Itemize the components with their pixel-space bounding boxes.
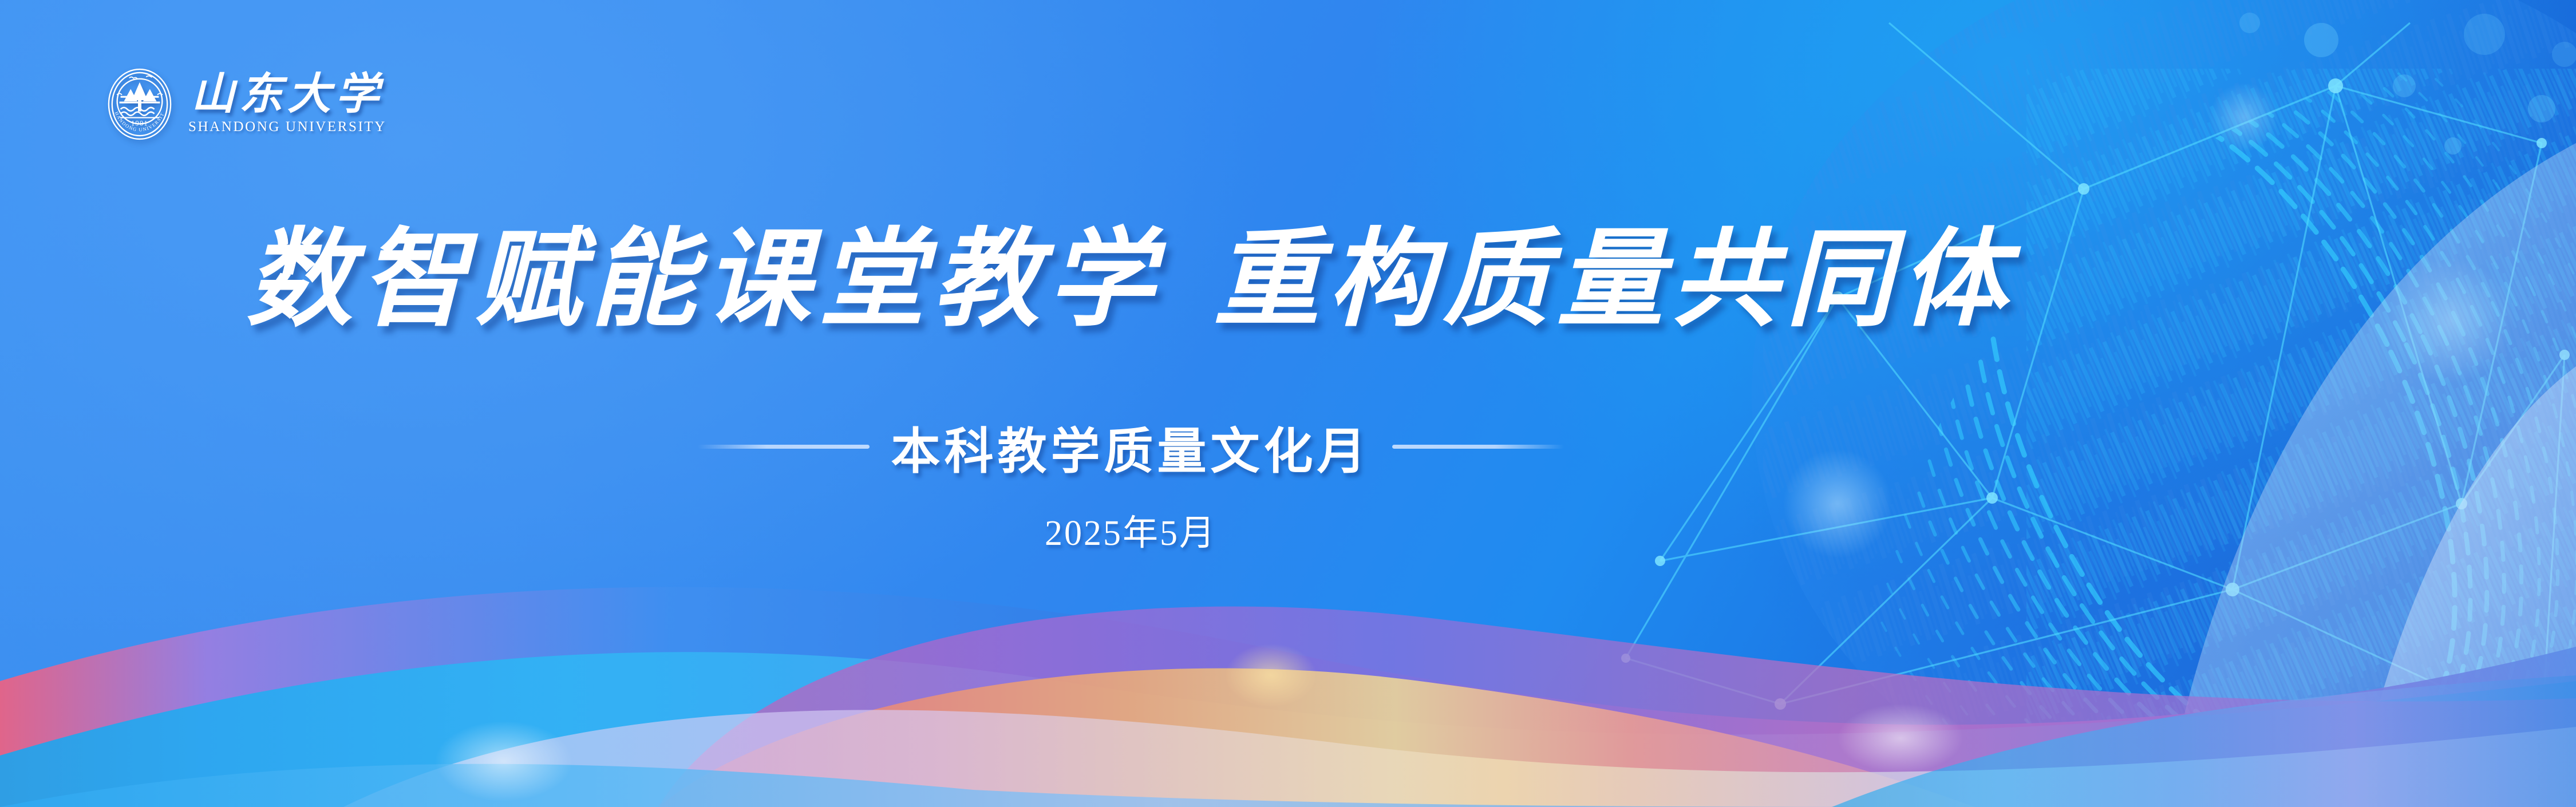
headline-part-2: 重构质量共同体: [1214, 221, 2015, 339]
rule-left-divider: [698, 445, 870, 449]
logo-name-en: SHANDONG UNIVERSITY: [188, 119, 386, 135]
rule-right-divider: [1392, 445, 1564, 449]
digital-globe-artwork: [1591, 0, 2576, 807]
page-title: 数智赋能课堂教学重构质量共同体: [0, 224, 2261, 337]
page-subtitle: 本科教学质量文化月: [891, 411, 1370, 482]
logo-name-cn: 山东大学: [191, 73, 384, 116]
headline-part-1: 数智赋能课堂教学: [246, 221, 1162, 339]
shandong-university-seal-icon: 1901 SHANDONG UNIVERSITY: [106, 68, 173, 141]
university-logo: 1901 SHANDONG UNIVERSITY 山东大学 SHANDONG U…: [106, 68, 386, 141]
logo-wordmark: 山东大学 SHANDONG UNIVERSITY: [188, 73, 386, 135]
event-date: 2025年5月: [0, 504, 2261, 555]
banner-root: 1901 SHANDONG UNIVERSITY 山东大学 SHANDONG U…: [0, 0, 2576, 807]
subtitle-row: 本科教学质量文化月: [0, 411, 2261, 482]
